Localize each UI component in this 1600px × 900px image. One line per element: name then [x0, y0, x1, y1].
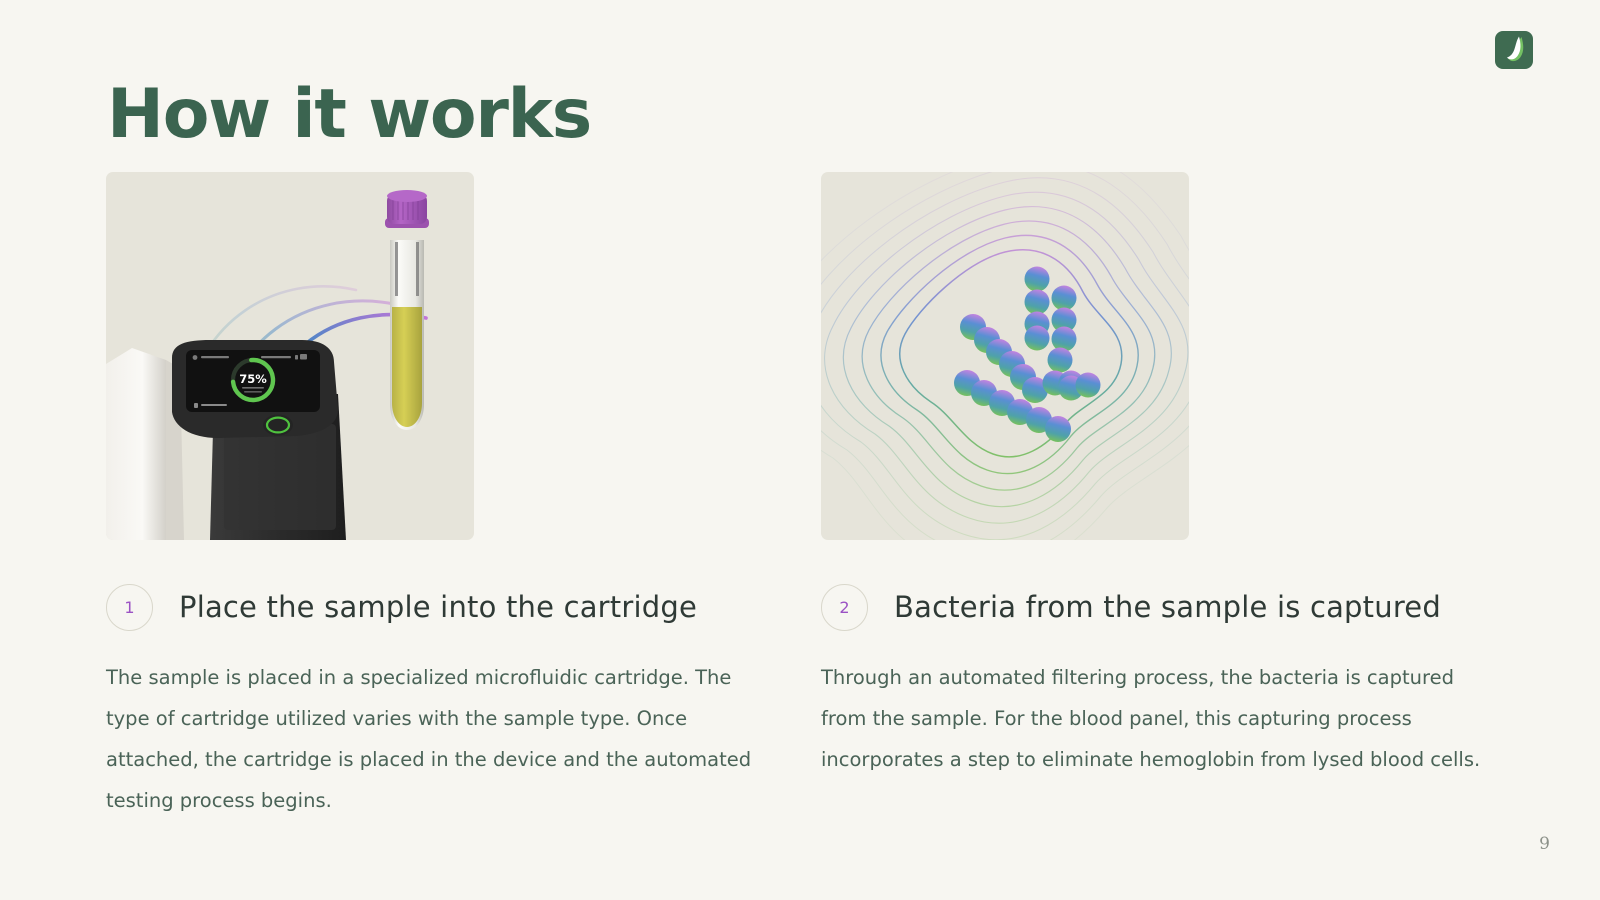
bacteria-capture-contour-illustration	[821, 172, 1189, 540]
sample-tube-icon	[106, 172, 474, 540]
step-1-body: The sample is placed in a specialized mi…	[106, 657, 766, 821]
step-2-header: 2 Bacteria from the sample is captured	[821, 583, 1521, 631]
step-1-header: 1 Place the sample into the cartridge	[106, 583, 806, 631]
step-1-image: 75%	[106, 172, 474, 540]
company-logo[interactable]	[1495, 31, 1533, 69]
step-column-2: 2 Bacteria from the sample is captured T…	[821, 172, 1521, 780]
step-2-number-badge: 2	[821, 584, 868, 631]
step-1-number-badge: 1	[106, 584, 153, 631]
page-title: How it works	[107, 75, 591, 154]
step-column-1: 75%	[106, 172, 806, 821]
step-1-title: Place the sample into the cartridge	[179, 590, 697, 624]
bacteria-dot-cluster	[954, 267, 1101, 443]
step-2-image	[821, 172, 1189, 540]
step-2-title: Bacteria from the sample is captured	[894, 590, 1441, 624]
logo-leaf-icon	[1495, 31, 1533, 69]
page-number: 9	[1539, 834, 1550, 854]
step-2-body: Through an automated filtering process, …	[821, 657, 1501, 780]
